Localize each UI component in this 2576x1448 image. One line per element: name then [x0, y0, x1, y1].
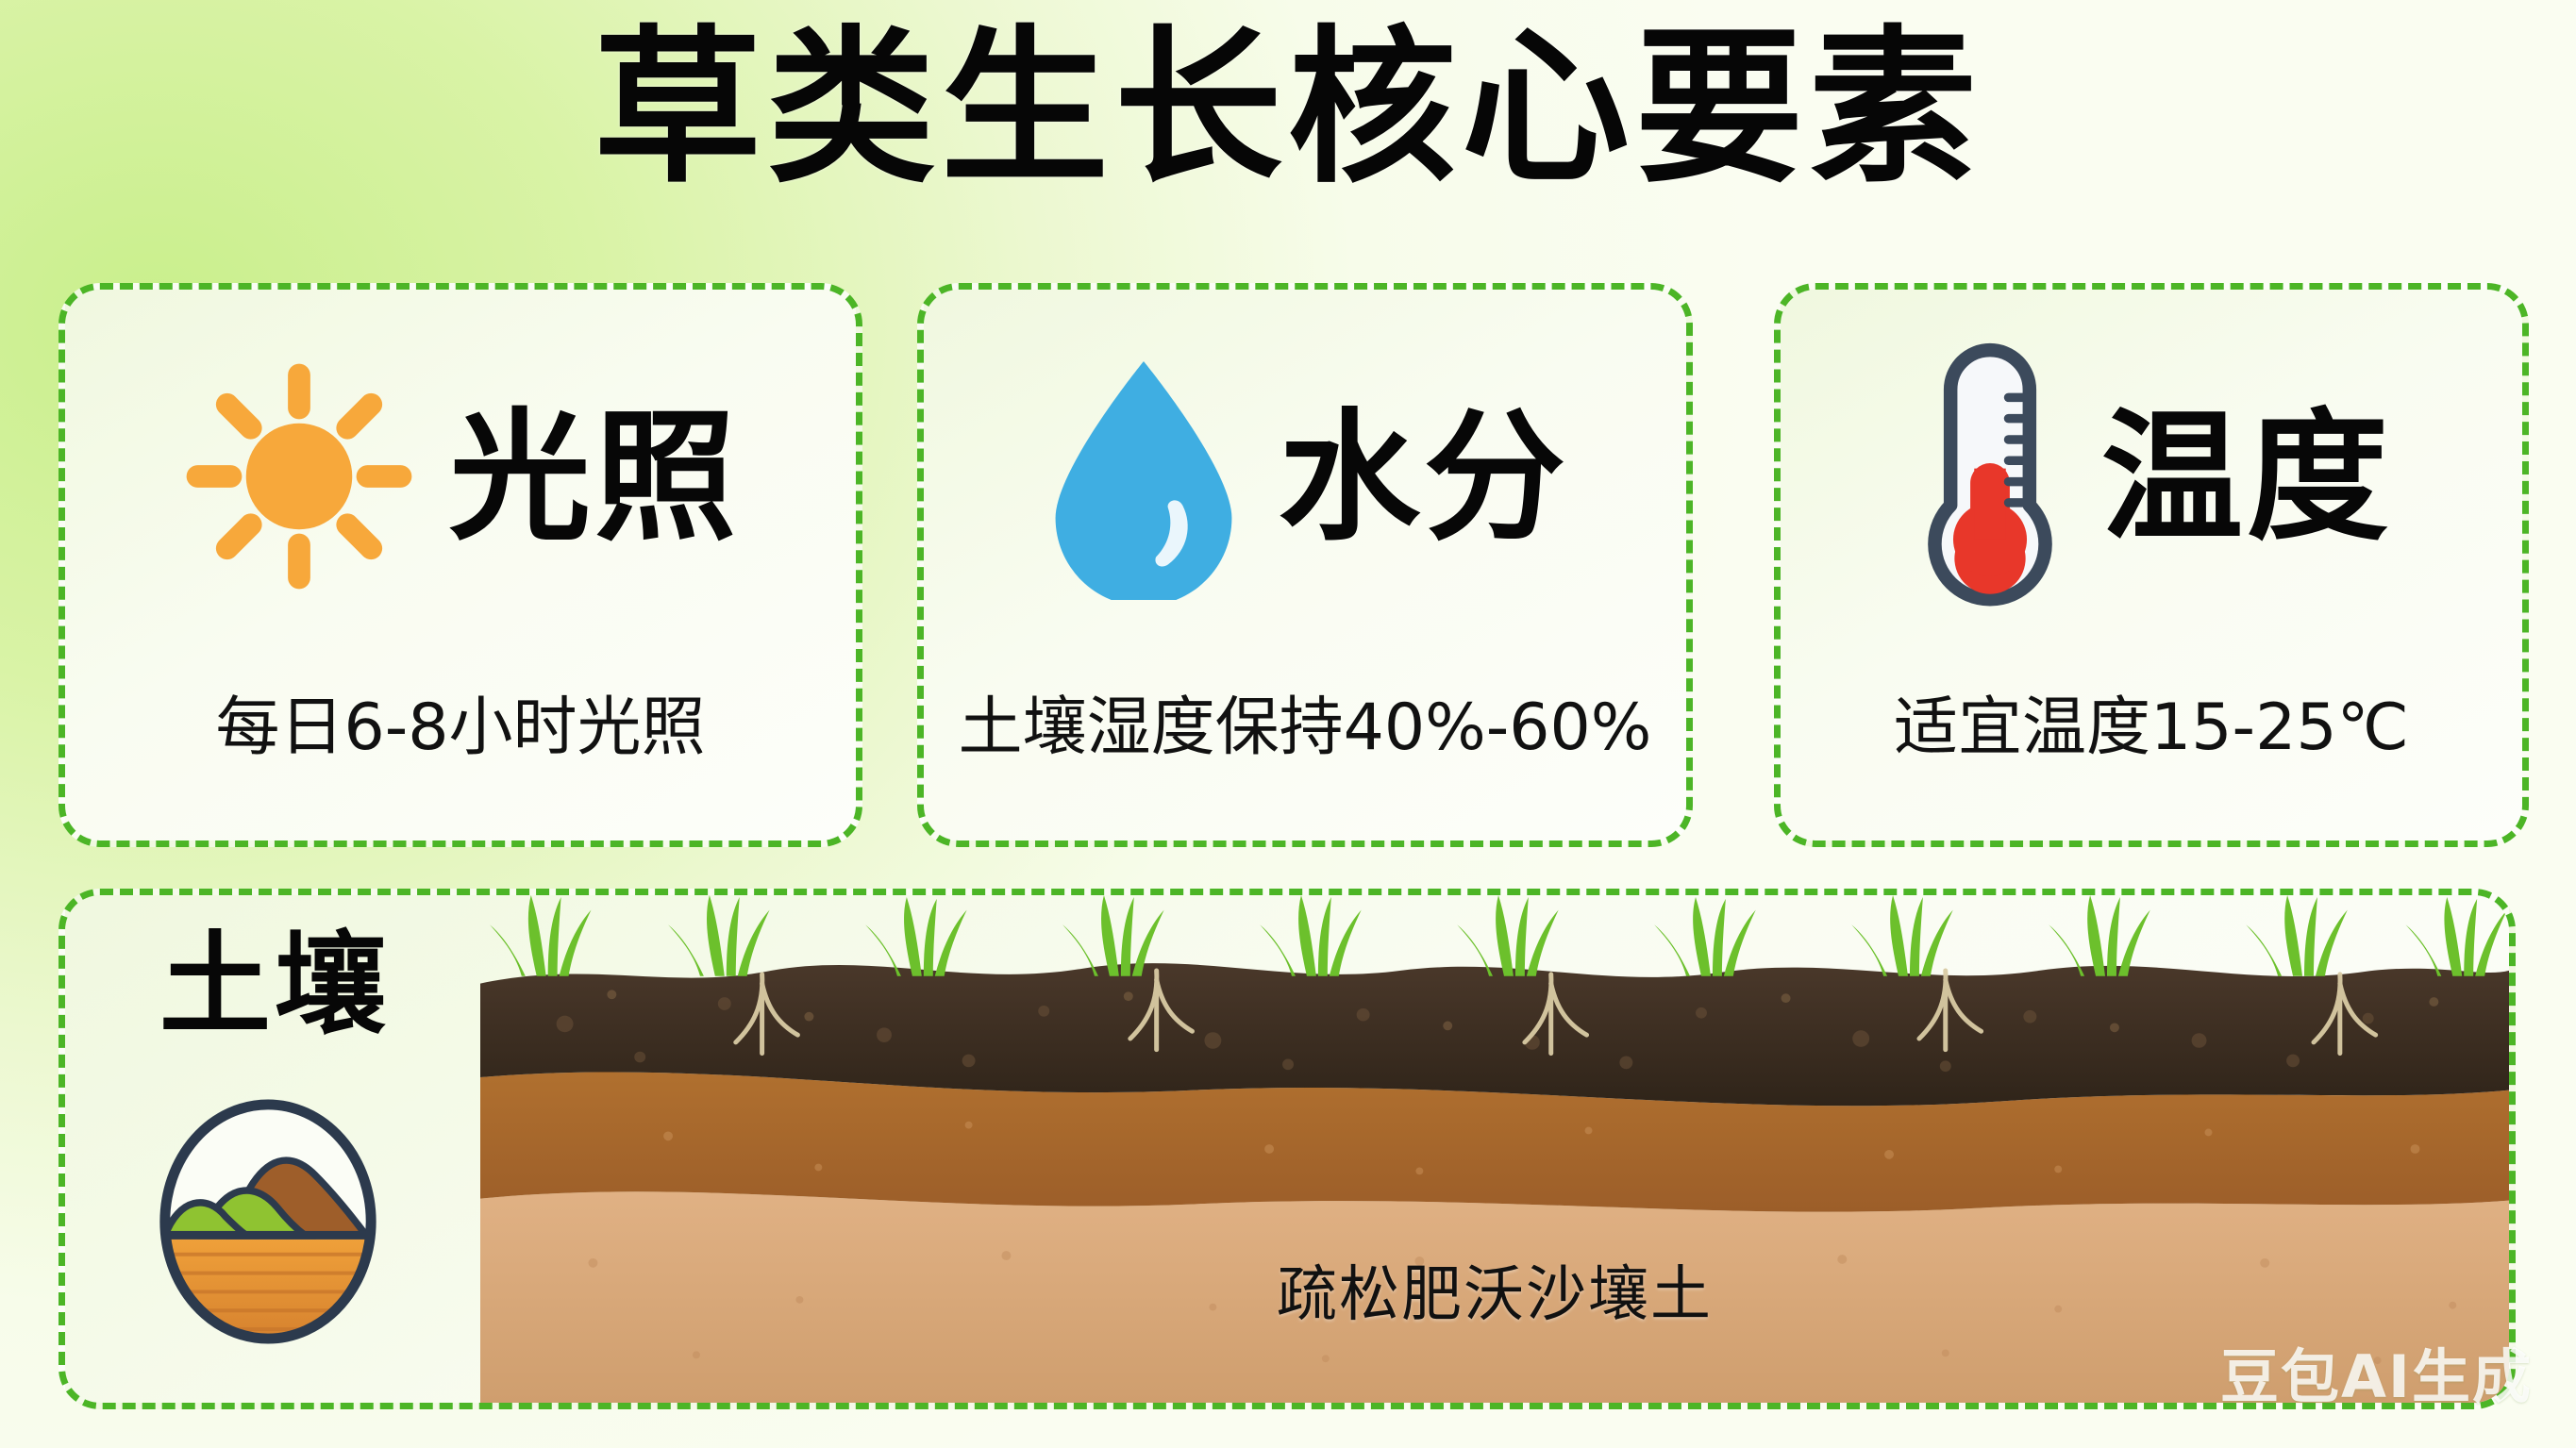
card-light[interactable]: 光照 每日6-8小时光照 [59, 283, 862, 847]
card-light-desc: 每日6-8小时光照 [78, 674, 843, 768]
card-temperature-head: 温度 [1781, 290, 2522, 667]
card-water[interactable]: 水分 土壤湿度保持40%-60% [917, 283, 1693, 847]
card-water-title: 水分 [1279, 408, 1569, 549]
watermark: 豆包AI生成 [2220, 1329, 2533, 1414]
water-drop-icon [1041, 353, 1246, 605]
soil-caption: 疏松肥沃沙壤土 [480, 1246, 2509, 1333]
card-water-head: 水分 [924, 290, 1686, 667]
card-temperature-title: 温度 [2101, 408, 2392, 549]
page-title: 草类生长核心要素 [0, 9, 2576, 208]
card-light-head: 光照 [65, 290, 856, 667]
card-light-title: 光照 [449, 408, 740, 549]
card-temperature-desc: 适宜温度15-25℃ [1794, 674, 2509, 768]
thermometer-icon [1911, 340, 2069, 618]
sun-icon [181, 358, 417, 599]
poster-canvas: 草类生长核心要素 光照 [0, 0, 2576, 1448]
soil-layers-badge-icon [150, 1095, 386, 1353]
card-water-desc: 土壤湿度保持40%-60% [937, 674, 1673, 768]
soil-label: 土壤 [159, 929, 390, 1040]
card-soil[interactable]: 土壤 [59, 889, 2516, 1409]
card-temperature[interactable]: 温度 适宜温度15-25℃ [1774, 283, 2529, 847]
